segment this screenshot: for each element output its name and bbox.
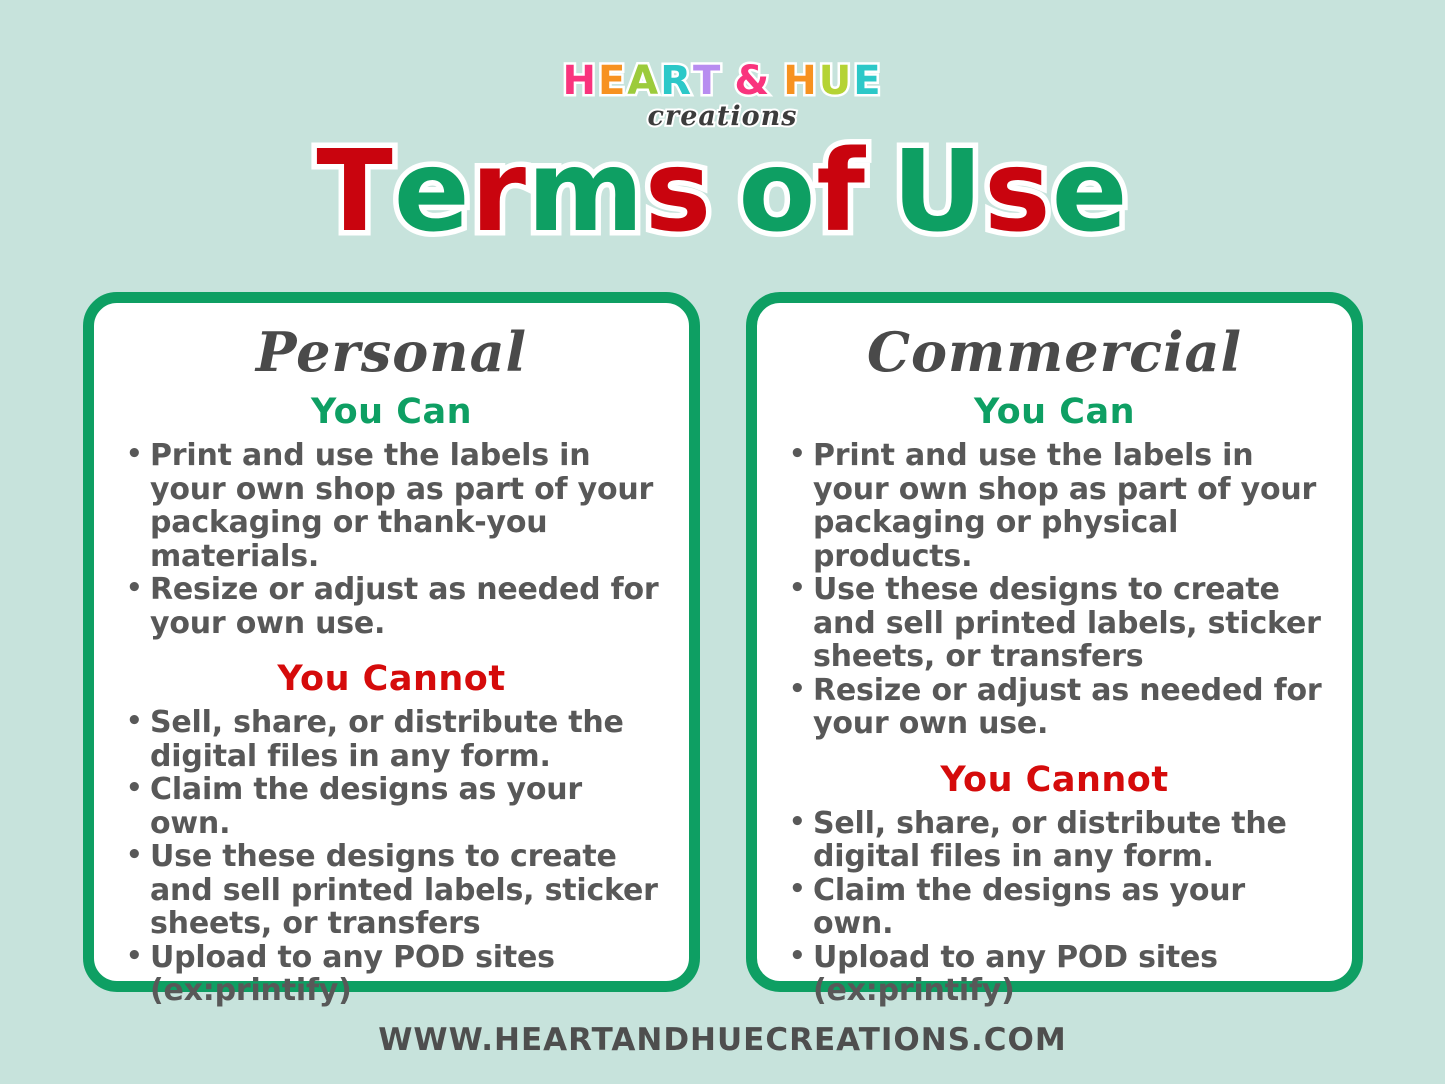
list-item: Use these designs to create and sell pri… (787, 573, 1332, 674)
list-item: Claim the designs as your own. (787, 874, 1332, 941)
list-item: Use these designs to create and sell pri… (124, 840, 669, 941)
list-item: Print and use the labels in your own sho… (787, 439, 1332, 573)
title-letter: E (598, 58, 627, 104)
you-cannot-list: Sell, share, or distribute the digital f… (773, 807, 1336, 1008)
list-item: Sell, share, or distribute the digital f… (787, 807, 1332, 874)
title-letter: m (527, 133, 645, 251)
section-heading-you-cannot: You Cannot (110, 658, 673, 700)
spacer (773, 741, 1336, 759)
list-item: Sell, share, or distribute the digital f… (124, 706, 669, 773)
footer-website: WWW.HEARTANDHUECREATIONS.COM (0, 1022, 1445, 1058)
section-heading-you-can: You Can (773, 391, 1336, 433)
title-letter: R (660, 58, 693, 104)
terms-cards-container: Personal You Can Print and use the label… (83, 292, 1363, 992)
title-letter: H (562, 58, 597, 104)
title-letter: T (693, 58, 722, 104)
section-heading-you-cannot: You Cannot (773, 759, 1336, 801)
title-letter: & (734, 58, 771, 104)
list-item: Resize or adjust as needed for your own … (124, 573, 669, 640)
brand-wordmark: HEART & HUE (0, 58, 1445, 104)
list-item: Upload to any POD sites (ex:printify) (787, 941, 1332, 1008)
letter-space (866, 133, 892, 251)
list-item: Claim the designs as your own. (124, 773, 669, 840)
title-letter: T (316, 133, 393, 251)
title-letter: U (819, 58, 853, 104)
title-letter: U (892, 133, 984, 251)
spacer (110, 640, 673, 658)
title-letter: r (471, 133, 527, 251)
card-title: Personal (110, 321, 673, 383)
card-personal: Personal You Can Print and use the label… (83, 292, 700, 992)
you-cannot-list: Sell, share, or distribute the digital f… (110, 706, 673, 1008)
brand-logo: HEART & HUE creations (0, 58, 1445, 132)
title-letter: e (394, 133, 471, 251)
letter-space (712, 133, 738, 251)
title-letter: A (627, 58, 660, 104)
title-letter: f (816, 133, 866, 251)
card-title: Commercial (773, 321, 1336, 383)
letter-space (722, 58, 734, 104)
title-letter: H (783, 58, 818, 104)
title-letter: s (645, 133, 713, 251)
title-letter: s (984, 133, 1052, 251)
title-letter: o (738, 133, 816, 251)
list-item: Resize or adjust as needed for your own … (787, 674, 1332, 741)
list-item: Print and use the labels in your own sho… (124, 439, 669, 573)
title-letter: E (853, 58, 882, 104)
title-letter: e (1052, 133, 1129, 251)
letter-space (771, 58, 783, 104)
section-heading-you-can: You Can (110, 391, 673, 433)
you-can-list: Print and use the labels in your own sho… (773, 439, 1336, 741)
page-title: Terms of Use (0, 133, 1445, 251)
card-commercial: Commercial You Can Print and use the lab… (746, 292, 1363, 992)
list-item: Upload to any POD sites (ex:printify) (124, 941, 669, 1008)
you-can-list: Print and use the labels in your own sho… (110, 439, 673, 640)
